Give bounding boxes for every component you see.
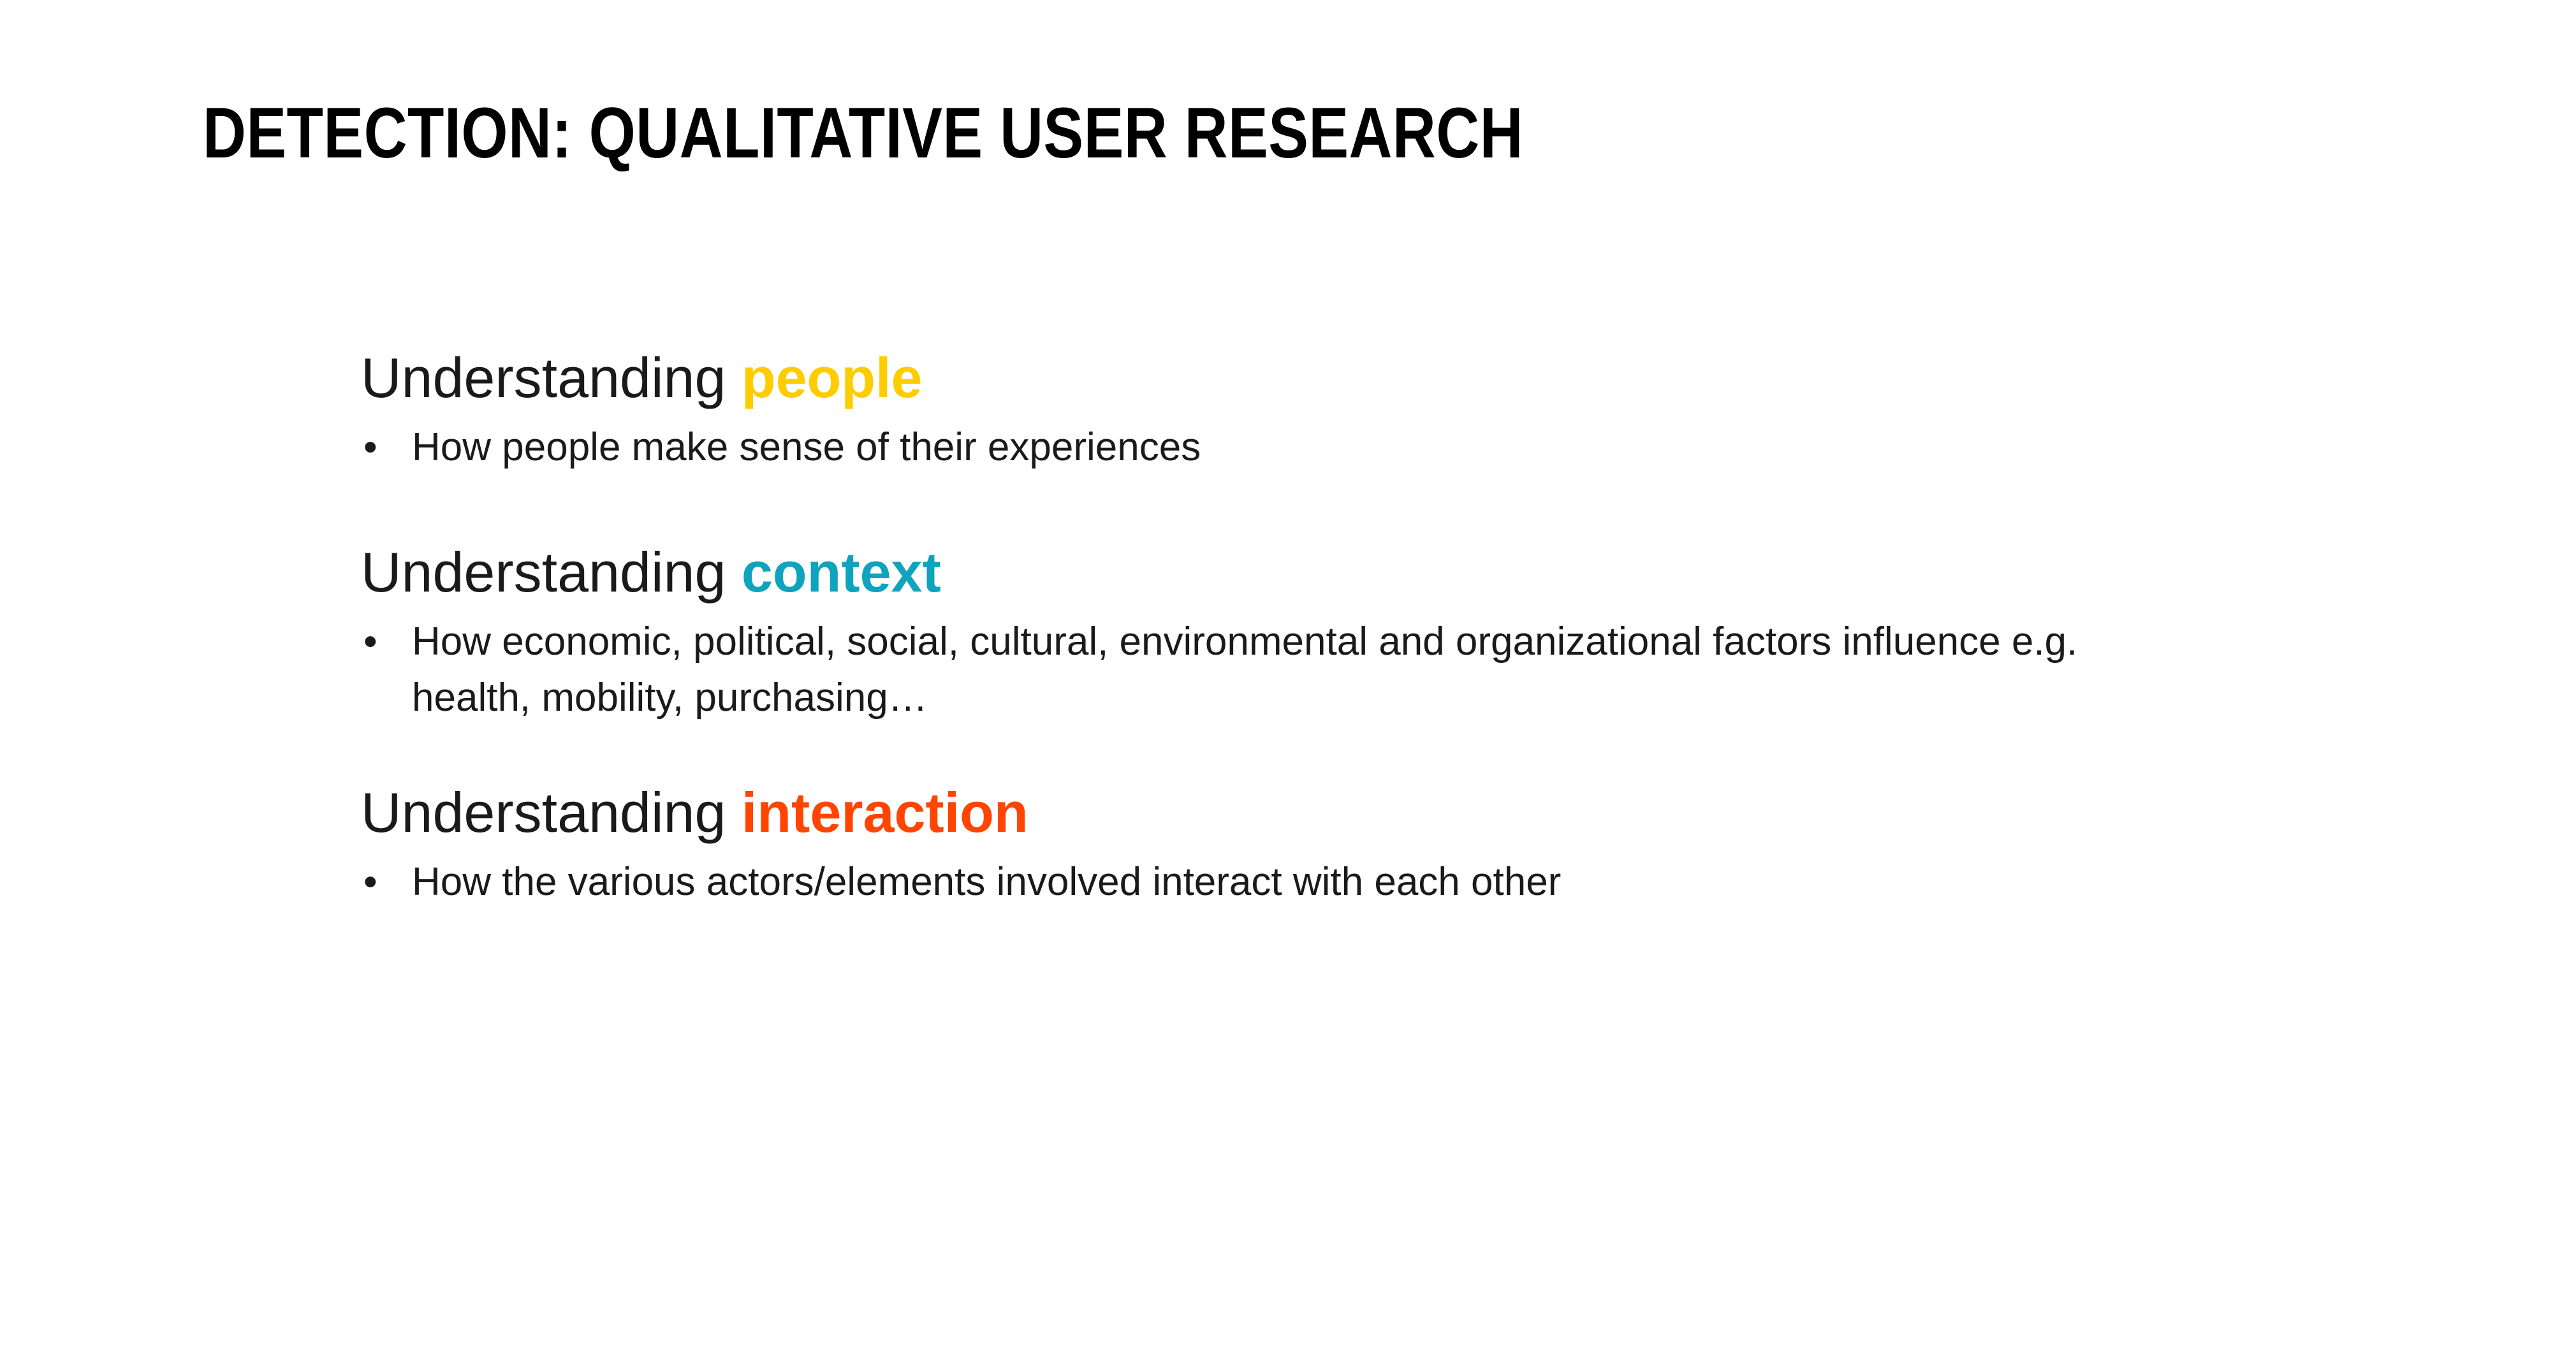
- section-understanding-context: Understanding context •How economic, pol…: [361, 542, 2274, 726]
- bullet-dot-icon: •: [363, 419, 377, 476]
- list-item: •How people make sense of their experien…: [361, 419, 2184, 476]
- heading-keyword-people: people: [742, 346, 923, 409]
- list-item: •How economic, political, social, cultur…: [361, 614, 2184, 726]
- section-heading-people: Understanding people: [361, 347, 2274, 408]
- list-item-text: How people make sense of their experienc…: [412, 425, 1201, 469]
- slide-body: Understanding people •How people make se…: [361, 347, 2274, 910]
- heading-prefix-interaction: Understanding: [361, 781, 742, 844]
- bullet-list-people: •How people make sense of their experien…: [361, 419, 2274, 476]
- section-heading-interaction: Understanding interaction: [361, 782, 2274, 843]
- heading-prefix-people: Understanding: [361, 346, 742, 409]
- section-understanding-people: Understanding people •How people make se…: [361, 347, 2274, 476]
- bullet-dot-icon: •: [363, 614, 377, 670]
- list-item-text: How economic, political, social, cultura…: [412, 620, 2077, 720]
- heading-keyword-interaction: interaction: [742, 781, 1028, 844]
- section-understanding-interaction: Understanding interaction •How the vario…: [361, 782, 2274, 910]
- list-item-text: How the various actors/elements involved…: [412, 860, 1561, 904]
- heading-keyword-context: context: [742, 541, 941, 604]
- bullet-list-context: •How economic, political, social, cultur…: [361, 614, 2274, 726]
- slide-canvas: DETECTION: QUALITATIVE USER RESEARCH Und…: [0, 0, 2576, 1345]
- bullet-dot-icon: •: [363, 854, 377, 910]
- bullet-list-interaction: •How the various actors/elements involve…: [361, 854, 2274, 910]
- list-item: •How the various actors/elements involve…: [361, 854, 2184, 910]
- heading-prefix-context: Understanding: [361, 541, 742, 604]
- section-heading-context: Understanding context: [361, 542, 2274, 602]
- page-title: DETECTION: QUALITATIVE USER RESEARCH: [203, 94, 1523, 172]
